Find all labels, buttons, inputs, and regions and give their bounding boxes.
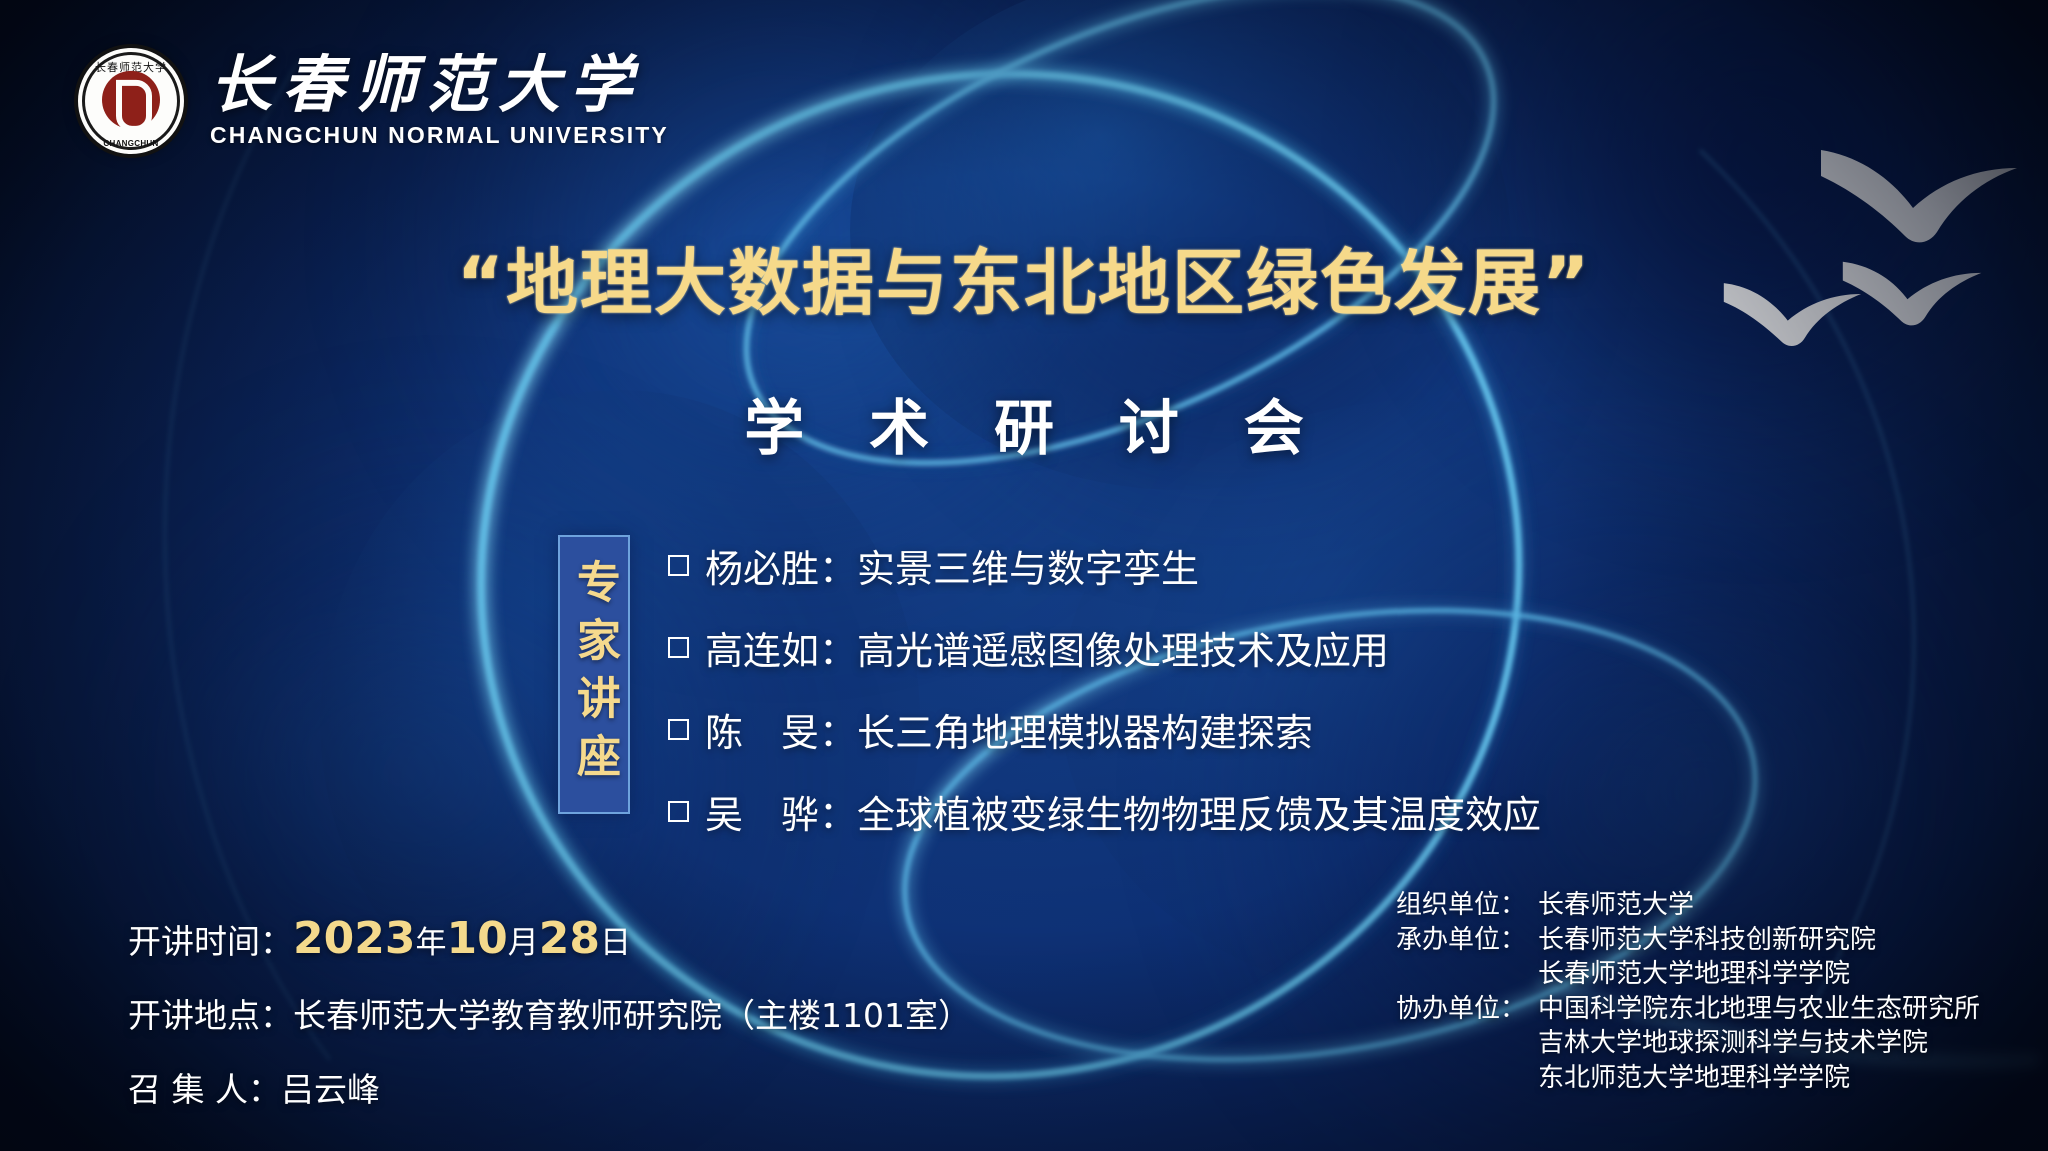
poster-subtitle: 学 术 研 讨 会 xyxy=(0,380,2048,467)
organizer-label: 协办单位： xyxy=(1396,992,1538,1096)
expert-lecture-badge: 专家讲座 xyxy=(558,535,630,814)
talk-item: 杨必胜 ： 实景三维与数字孪生 xyxy=(668,538,1541,593)
poster-title: “地理大数据与东北地区绿色发展” xyxy=(0,224,2048,329)
square-bullet-icon xyxy=(668,801,689,822)
talk-topic: 高光谱遥感图像处理技术及应用 xyxy=(857,620,1389,675)
square-bullet-icon xyxy=(668,637,689,658)
organizer-block: 组织单位： 长春师范大学 承办单位： 长春师范大学科技创新研究院 长春师范大学地… xyxy=(1396,888,1980,1095)
event-convener-row: 召 集 人： 吕云峰 xyxy=(128,1063,971,1111)
event-time-label: 开讲时间： xyxy=(128,915,293,963)
organizer-row: 承办单位： 长春师范大学科技创新研究院 长春师范大学地理科学学院 xyxy=(1396,923,1980,992)
talk-item: 吴 骅 ： 全球植被变绿生物物理反馈及其温度效应 xyxy=(668,784,1541,839)
event-time-month-unit: 月 xyxy=(508,917,539,962)
event-time-row: 开讲时间： 2023 年 10 月 28 日 xyxy=(128,915,971,963)
university-seal-icon: 长春师范大学 CHANGCHUN xyxy=(78,48,184,154)
organizer-label: 承办单位： xyxy=(1396,923,1538,992)
organizer-value: 中国科学院东北地理与农业生态研究所 xyxy=(1538,992,1980,1027)
event-time-month: 10 xyxy=(446,917,507,961)
organizer-value: 长春师范大学地理科学学院 xyxy=(1538,957,1876,992)
talk-topic: 长三角地理模拟器构建探索 xyxy=(857,702,1313,757)
event-time-year-unit: 年 xyxy=(415,917,446,962)
talk-separator: ： xyxy=(819,538,857,593)
seal-monogram xyxy=(102,71,160,129)
event-place-value: 长春师范大学教育教师研究院（主楼1101室） xyxy=(293,989,971,1037)
organizer-label: 组织单位： xyxy=(1396,888,1538,923)
seal-bottom-chars: CHANGCHUN xyxy=(78,139,184,148)
event-time-day: 28 xyxy=(539,917,600,961)
university-name-cn: 长春师范大学 xyxy=(210,53,669,116)
talk-speaker: 吴 骅 xyxy=(705,784,819,839)
event-info: 开讲时间： 2023 年 10 月 28 日 开讲地点： 长春师范大学教育教师研… xyxy=(128,915,971,1111)
event-place-label: 开讲地点： xyxy=(128,989,293,1037)
organizer-value: 长春师范大学科技创新研究院 xyxy=(1538,923,1876,958)
square-bullet-icon xyxy=(668,719,689,740)
expert-lecture-badge-label: 专家讲座 xyxy=(562,559,626,791)
university-name-en: CHANGCHUN NORMAL UNIVERSITY xyxy=(210,122,669,149)
organizer-value: 东北师范大学地理科学学院 xyxy=(1538,1061,1980,1096)
event-convener-value: 吕云峰 xyxy=(281,1063,380,1111)
talk-topic: 实景三维与数字孪生 xyxy=(857,538,1199,593)
event-convener-label: 召 集 人： xyxy=(128,1063,281,1111)
event-place-row: 开讲地点： 长春师范大学教育教师研究院（主楼1101室） xyxy=(128,989,971,1037)
organizer-row: 协办单位： 中国科学院东北地理与农业生态研究所 吉林大学地球探测科学与技术学院 … xyxy=(1396,992,1980,1096)
talk-speaker: 高连如 xyxy=(705,620,819,675)
talk-speaker: 杨必胜 xyxy=(705,538,819,593)
university-brand: 长春师范大学 CHANGCHUN 长春师范大学 CHANGCHUN NORMAL… xyxy=(78,48,669,154)
talk-item: 高连如 ： 高光谱遥感图像处理技术及应用 xyxy=(668,620,1541,675)
poster-canvas: 长春师范大学 CHANGCHUN 长春师范大学 CHANGCHUN NORMAL… xyxy=(0,0,2048,1151)
talk-separator: ： xyxy=(819,702,857,757)
talk-item: 陈 旻 ： 长三角地理模拟器构建探索 xyxy=(668,702,1541,757)
organizer-row: 组织单位： 长春师范大学 xyxy=(1396,888,1980,923)
event-time-year: 2023 xyxy=(293,917,415,961)
organizer-value: 长春师范大学 xyxy=(1538,888,1694,923)
organizer-value: 吉林大学地球探测科学与技术学院 xyxy=(1538,1026,1980,1061)
talk-separator: ： xyxy=(819,620,857,675)
square-bullet-icon xyxy=(668,555,689,576)
event-time-day-unit: 日 xyxy=(600,917,631,962)
talk-speaker: 陈 旻 xyxy=(705,702,819,757)
talk-separator: ： xyxy=(819,784,857,839)
talk-list: 杨必胜 ： 实景三维与数字孪生 高连如 ： 高光谱遥感图像处理技术及应用 陈 旻… xyxy=(668,538,1541,839)
talk-topic: 全球植被变绿生物物理反馈及其温度效应 xyxy=(857,784,1541,839)
